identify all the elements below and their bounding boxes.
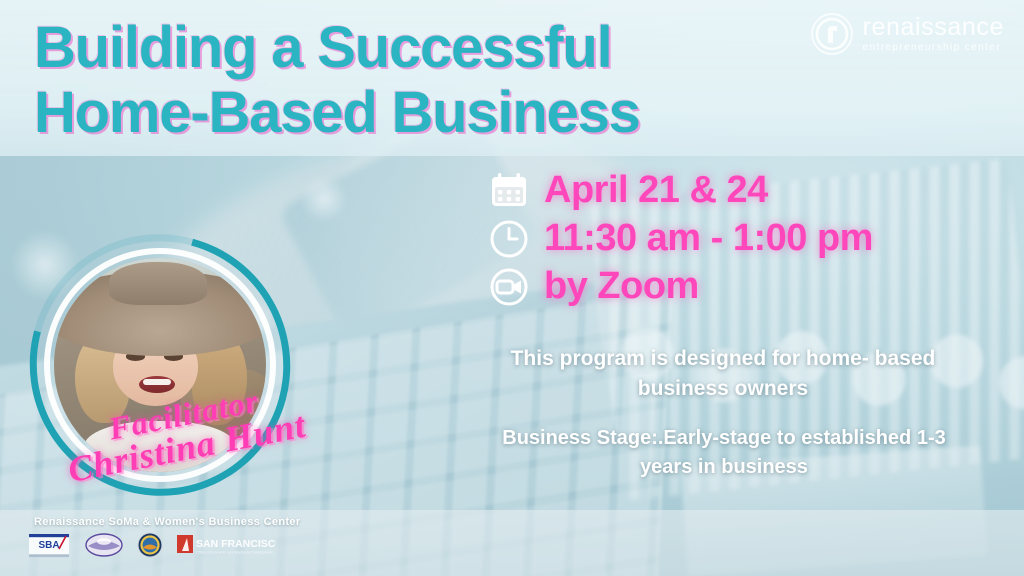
partner-logos: SBA [26, 532, 276, 558]
event-platform: by Zoom [544, 267, 699, 307]
footer-band: Renaissance SoMa & Women's Business Cent… [0, 510, 1024, 576]
description-line-1: This program is designed for home- [511, 347, 869, 370]
program-description: This program is designed for home- based… [488, 344, 958, 404]
event-time: 11:30 am - 1:00 pm [544, 219, 873, 259]
detail-row-time: 11:30 am - 1:00 pm [488, 218, 948, 260]
title-line-2: Home-Based Business [34, 81, 814, 146]
city-seal-logo [136, 532, 164, 558]
detail-row-platform: by Zoom [488, 266, 948, 308]
svg-text:SAN FRANCISCO: SAN FRANCISCO [196, 538, 276, 550]
event-flyer: Building a Successful Home-Based Busines… [0, 0, 1024, 576]
event-details: April 21 & 24 11:30 am - 1:00 pm by [488, 170, 948, 314]
renaissance-circle-r-icon [810, 12, 854, 56]
brand-logo: renaissance entrepreneurship center [810, 12, 1004, 56]
womens-business-center-logo [84, 532, 124, 558]
svg-text:Office of Economic and Workfor: Office of Economic and Workforce Develop… [196, 551, 273, 555]
footer-text: Renaissance SoMa & Women's Business Cent… [34, 516, 301, 528]
portrait-teal-ring [0, 187, 338, 544]
event-date: April 21 & 24 [544, 171, 768, 211]
san-francisco-logo: SAN FRANCISCO Office of Economic and Wor… [176, 532, 276, 558]
brand-name: renaissance [863, 15, 1004, 40]
sba-logo: SBA [26, 532, 72, 558]
clock-icon [488, 218, 530, 260]
brand-subtitle: entrepreneurship center [863, 43, 1004, 53]
svg-text:SBA: SBA [38, 540, 59, 551]
page-title: Building a Successful Home-Based Busines… [34, 16, 814, 146]
stage-line-1: Business Stage:.Early-stage to establish… [502, 427, 911, 449]
business-stage-note: Business Stage:.Early-stage to establish… [478, 424, 970, 482]
video-camera-icon [488, 266, 530, 308]
title-line-1: Building a Successful [34, 15, 612, 80]
detail-row-date: April 21 & 24 [488, 170, 948, 212]
calendar-icon [488, 170, 530, 212]
